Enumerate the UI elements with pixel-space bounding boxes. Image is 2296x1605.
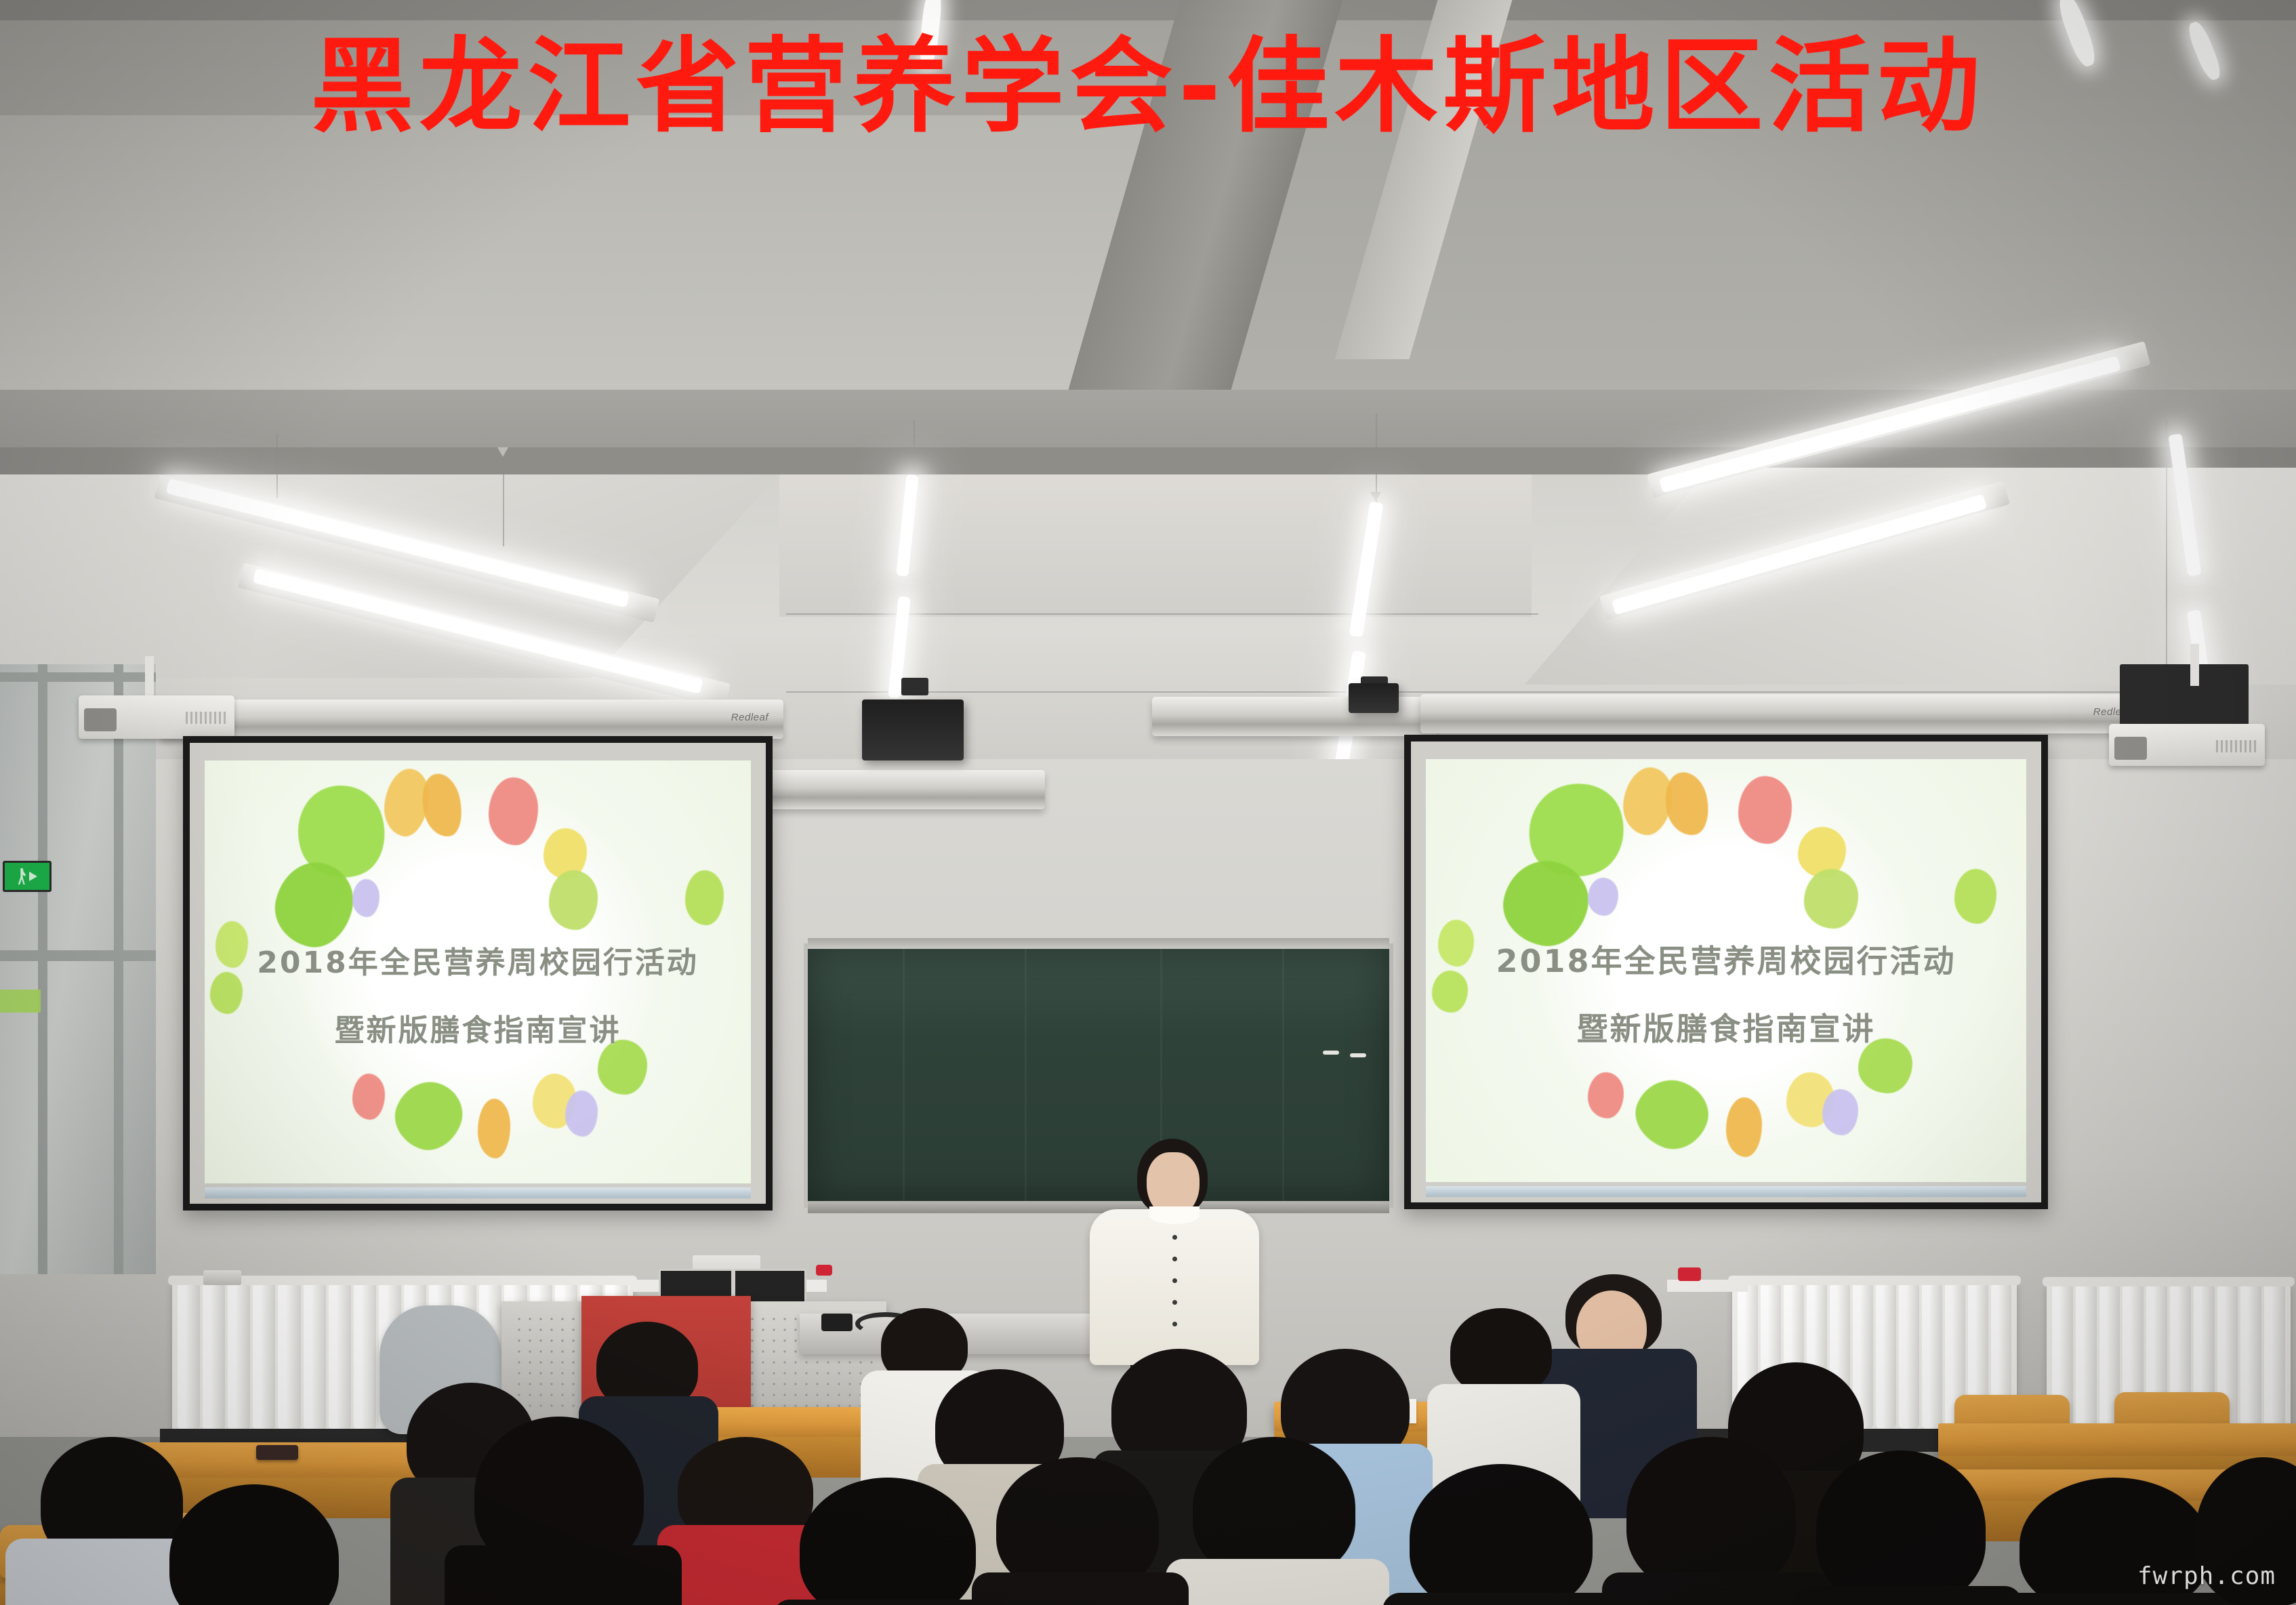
slide-kiwi-r1 [1804,869,1858,928]
audience-torso [1382,1593,1626,1605]
radiator-valve-left-2 [816,1265,832,1276]
slide-grape-2 [565,1091,598,1137]
ceiling-projector-left [79,695,234,739]
projector-bracket-shadow-right [2120,664,2249,725]
presenter-button-5 [1172,1322,1177,1326]
radiator-fin [1899,1282,1919,1429]
radiator-fin [228,1282,250,1430]
site-watermark: fwrph.com [2137,1562,2276,1590]
slide-title-line-2-right: 暨新版膳食指南宣讲 [1426,1004,2026,1049]
ceiling-edge-strip [0,0,2296,20]
left-screen-bottom-edge [205,1187,751,1198]
audience-hair [1193,1437,1355,1579]
slide-title-line-2: 暨新版膳食指南宣讲 [205,1006,751,1049]
wall-seam-2 [786,691,2128,693]
right-screen-bottom-edge [1426,1186,2026,1197]
screen-roller-center [763,770,1045,809]
right-screen-surface: 2018年全民营养周校园行活动 暨新版膳食指南宣讲 [1426,759,2026,1182]
radiator-valve-right [1678,1267,1701,1281]
projector-vents-right [2216,740,2257,752]
glass-partition-left [0,664,156,1274]
radiator-fin [2240,1284,2261,1429]
audience-hair [1626,1437,1796,1593]
presenter-shirt [1090,1209,1259,1365]
radiator-fin [253,1282,275,1430]
radiator-fin [178,1282,200,1430]
window-header-rail [0,672,156,682]
radiator-fin [354,1282,376,1430]
radiator-right-top-bar [1728,1276,2021,1285]
radiator-fin [278,1282,300,1430]
presenter-button-1 [1172,1235,1177,1240]
ceiling-projector-right [2109,724,2265,766]
presenter-button-3 [1172,1278,1177,1283]
soffit-center [779,474,1532,617]
slide-grape-r1 [1588,878,1618,916]
radiator-fin [2076,1284,2097,1429]
wall-speaker-center [862,699,964,760]
radiator-fin [1876,1282,1896,1429]
window-mullion-vertical-2 [114,664,123,1274]
audience-hair [1450,1308,1552,1395]
window-mullion-vertical-1 [38,664,47,1274]
desk-row-back-right [1938,1423,2296,1456]
speaker-bracket-center [901,678,928,695]
slide-tomato-r1 [1738,776,1792,844]
slide-pepper-1 [352,1074,385,1120]
audience-torso [972,1572,1189,1605]
slide-corn-r2 [1726,1097,1762,1156]
chalk-piece-2 [1350,1053,1366,1057]
lecture-hall-photo: Redleaf Redleaf [0,0,2296,1605]
radiator-fin [1922,1282,1942,1429]
audience-torso [1792,1586,2022,1605]
screen-roller-left: Redleaf [160,699,783,739]
audience-torso [1999,1593,2243,1605]
radiator-fin [2264,1284,2285,1429]
left-screen-surface: 2018年全民营养周校园行活动 暨新版膳食指南宣讲 [205,760,751,1183]
presenter-button-2 [1172,1257,1177,1261]
audience-hair [1816,1450,1986,1605]
wall-speaker-right [1349,683,1399,713]
slide-leaf-r5 [1954,869,1996,924]
right-projection-screen: 2018年全民营养周校园行活动 暨新版膳食指南宣讲 [1404,735,2048,1209]
chalk-piece-1 [1323,1051,1339,1055]
chalkboard-streak-4 [1282,948,1284,1204]
audience-hair [1410,1464,1593,1605]
left-projection-screen: 2018年全民营养周校园行活动 暨新版膳食指南宣讲 [183,736,773,1211]
slide-leaf-5 [685,870,723,925]
slide-corn-2 [478,1099,510,1158]
audience-torso [1166,1559,1389,1605]
projector-mount-arm-right [2190,644,2199,686]
projector-lens-left [84,708,117,731]
mic-receiver-box[interactable] [821,1314,853,1331]
chalkboard-top-rail [808,938,1389,949]
audience-torso [445,1545,682,1605]
slide-grape-r2 [1822,1089,1858,1136]
chalkboard-streak-2 [1025,948,1027,1204]
slide-tomato-1 [489,777,538,845]
slide-title-line-1-right: 2018年全民营养周校园行活动 [1426,937,2026,981]
radiator-fin [329,1282,351,1430]
light-hanger-1 [276,434,278,498]
slide-title-line-1: 2018年全民营养周校园行活动 [205,938,751,981]
light-hanger-2 [503,458,504,546]
presenter-button-4 [1172,1300,1177,1305]
radiator-fin [203,1282,225,1430]
projector-lens-right [2114,737,2147,760]
screen-roller-right-2: Redleaf [1420,694,2146,733]
projector-vents-left [186,712,226,724]
projector-mount-arm-left [145,656,154,701]
running-man-glyph [17,868,26,885]
radiator-fin [304,1282,326,1430]
window-mullion-horizontal [0,950,156,961]
slide-kiwi-1 [549,870,598,929]
radiator-pipe-right [1667,1280,1748,1292]
presenter-collar [1149,1206,1200,1224]
emergency-exit-icon [3,861,52,892]
ceiling-panel-left [0,115,1220,427]
wall-outlet-box [203,1270,241,1285]
audience-torso [773,1600,1010,1605]
radiator-far-right-top-bar [2043,1277,2295,1286]
screen-brand-label-left: Redleaf [731,712,768,723]
chalkboard-streak-1 [903,948,905,1204]
exit-arrow-glyph [29,872,37,881]
green-reflection-bar [0,990,41,1013]
mobile-phone-on-desk[interactable] [256,1445,298,1460]
slide-grape-1 [352,879,380,917]
